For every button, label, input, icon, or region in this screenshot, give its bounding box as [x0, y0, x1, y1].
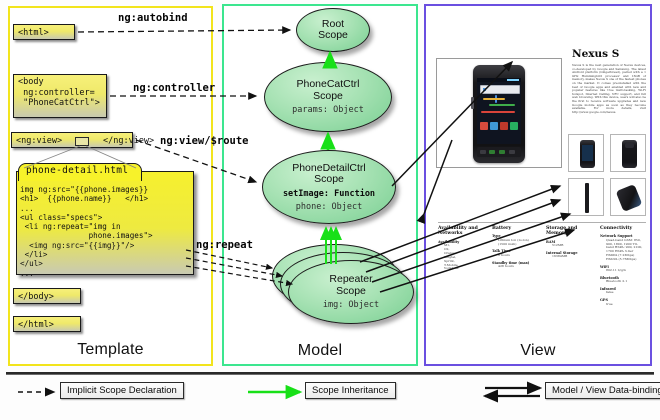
edge-label-autobind: ng:autobind — [118, 12, 188, 24]
tag-body-open: <body ng:controller= "PhoneCatCtrl"> — [13, 74, 107, 118]
spec-table-rule — [438, 222, 646, 223]
edge-label-ngrepeat: ng:repeat — [196, 239, 253, 251]
phone-app-icons-row — [480, 122, 518, 136]
product-title: Nexus S — [572, 48, 619, 60]
legend-item-implicit-scope-declaration: Implicit Scope Declaration — [60, 382, 184, 399]
scope-phonedetailctrl: PhoneDetailCtrl Scope setImage: Function… — [262, 150, 396, 224]
phone-device-image — [473, 65, 525, 163]
spec-column-connectivity: Connectivity Network Support Quad-band G… — [600, 226, 648, 306]
scope-repeater-line2: Scope — [336, 286, 366, 298]
spec-value-infrared: false — [600, 291, 648, 295]
thumbnail-3[interactable] — [568, 178, 604, 216]
edge-label-ngview: ng:view/$route — [160, 135, 249, 147]
spec-heading-battery: Battery — [492, 226, 542, 231]
tag-ngview: <ng:view> </ng:view> — [11, 132, 133, 148]
rendered-view-document: Nexus S Nexus S is the next generation o… — [430, 10, 646, 350]
spec-value-battery-type-1: (1500 mAh) — [492, 243, 542, 247]
legend-divider — [6, 372, 654, 375]
thumbnail-2[interactable] — [610, 134, 646, 172]
scope-phonecatctrl-attr-params: params: Object — [292, 105, 364, 115]
spec-value-ram: 512MB — [546, 244, 596, 248]
phone-menu-button-icon — [489, 150, 495, 154]
legend-item-model-view-data-binding: Model / View Data-binding — [545, 382, 660, 399]
spec-column-availability: Availability and Networks Availability M… — [438, 226, 486, 271]
thumbnail-4-phone-icon — [616, 184, 643, 212]
tag-html-close: </html> — [13, 316, 81, 332]
product-description: Nexus S is the next generation of Nexus … — [572, 64, 646, 114]
spec-value-gps: true — [600, 303, 648, 307]
phone-screen — [477, 78, 521, 144]
phone-hero-image-frame — [436, 58, 562, 168]
thumbnail-4[interactable] — [610, 178, 646, 216]
thumbnail-3-phone-icon — [585, 183, 589, 213]
panel-template-title: Template — [10, 341, 211, 359]
panel-model-title: Model — [224, 342, 416, 360]
spec-value-network-5: HSUPA (5.76Mbps) — [600, 258, 648, 262]
spec-value-internal-storage: 16384MB — [546, 255, 596, 259]
spec-value-availability-6: Vodafone — [438, 267, 486, 271]
diagram-root: Template <html> <body ng:controller= "Ph… — [0, 0, 660, 420]
spec-heading-connectivity: Connectivity — [600, 226, 648, 231]
phone-app-icon-1 — [480, 122, 488, 130]
scope-phonecatctrl-line1: PhoneCatCtrl — [296, 79, 359, 91]
phone-side-button-icon — [471, 97, 474, 109]
phone-search-button-icon — [509, 150, 515, 154]
spec-column-battery: Battery Type Lithium Ion (Li-Ion) (1500 … — [492, 226, 542, 269]
scope-root-line2: Scope — [318, 30, 348, 42]
phone-back-button-icon — [480, 150, 486, 154]
edge-label-controller: ng:controller — [133, 82, 215, 94]
scope-phonedetailctrl-line2: Scope — [314, 174, 344, 186]
scope-repeater-line1: Repeater — [329, 274, 372, 286]
tag-html-open: <html> — [13, 24, 75, 40]
spec-value-battery-talk-0: 6 hours — [492, 254, 542, 258]
phone-app-icon-3 — [500, 122, 508, 130]
scope-phonedetailctrl-attr-setimage: setImage: Function — [283, 189, 375, 199]
scope-phonedetailctrl-attr-phone: phone: Object — [296, 202, 363, 212]
phone-detail-filename: phone-detail.html — [26, 165, 128, 176]
spec-value-bluetooth: Bluetooth 2.1 — [600, 280, 648, 284]
phone-app-icon-4 — [510, 122, 518, 130]
legend-item-scope-inheritance: Scope Inheritance — [305, 382, 396, 399]
scope-phonecatctrl: PhoneCatCtrl Scope params: Object — [264, 62, 392, 132]
phone-wallpaper-line-1 — [483, 98, 505, 100]
scope-phonecatctrl-line2: Scope — [313, 91, 343, 103]
phone-button-bar — [477, 147, 521, 157]
scope-repeater: Repeater Scope img: Object — [288, 260, 414, 324]
scope-root: Root Scope — [296, 8, 370, 52]
thumbnail-1-phone-icon — [580, 140, 595, 168]
spec-column-storage: Storage and Memory RAM 512MB Internal St… — [546, 226, 596, 259]
phone-home-button-icon — [499, 150, 505, 154]
phone-detail-code: img ng:src="{{phone.images}} <h1> {{phon… — [20, 185, 192, 278]
thumbnail-1[interactable] — [568, 134, 604, 172]
phone-wallpaper-line-3 — [481, 111, 515, 113]
scope-repeater-attr-img: img: Object — [323, 300, 379, 310]
phone-detail-callout: phone-detail.html img ng:src="{{phone.im… — [16, 163, 194, 275]
tag-body-close: </body> — [13, 288, 81, 304]
phone-app-icon-2 — [490, 122, 498, 130]
spec-table: Availability and Networks Availability M… — [434, 226, 646, 326]
ngview-slot-rect — [75, 137, 89, 146]
thumbnail-2-phone-icon — [622, 140, 637, 168]
spec-value-battery-standby-0: 428 hours — [492, 265, 542, 269]
spec-heading-availability: Availability and Networks — [438, 226, 486, 237]
spec-heading-storage: Storage and Memory — [546, 226, 596, 237]
phone-statusbar — [477, 78, 521, 82]
phone-search-widget-icon — [480, 85, 520, 94]
phone-wallpaper-line-2 — [489, 104, 515, 106]
spec-value-wifi: 802.11 b/g/n — [600, 269, 648, 273]
